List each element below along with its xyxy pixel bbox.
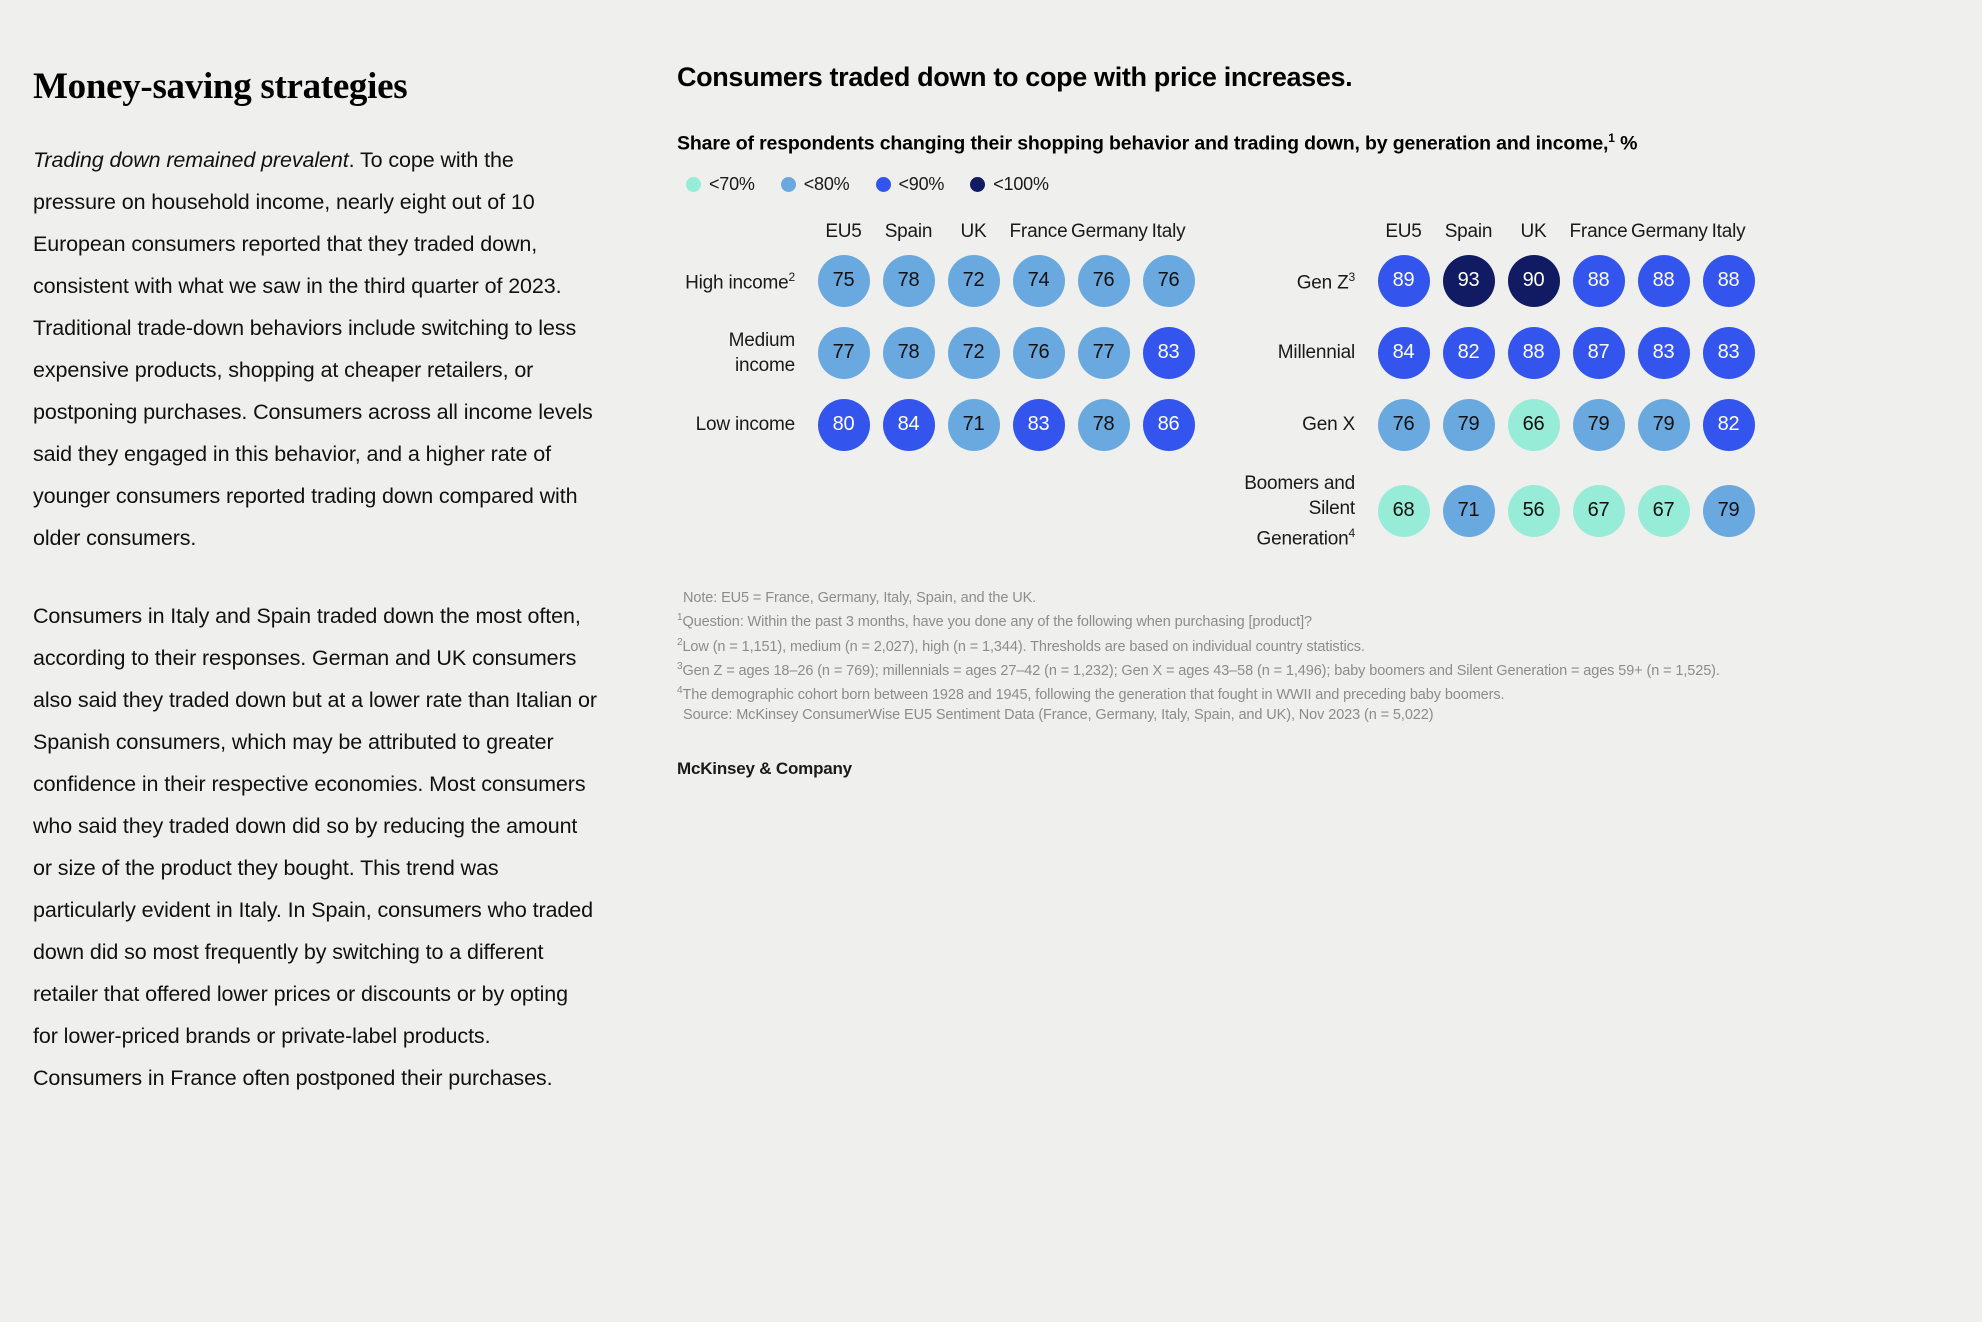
generation-panel: EU5SpainUKFranceGermanyItalyGen Z3899390… xyxy=(1237,221,1761,571)
matrix-cell: 80 xyxy=(811,399,876,451)
matrix-row: Boomers and Silent Generation46871566767… xyxy=(1237,471,1761,551)
matrix-cell: 67 xyxy=(1566,485,1631,537)
value-bubble: 66 xyxy=(1508,399,1560,451)
legend-swatch-circle-icon xyxy=(970,177,985,192)
matrix-cell: 87 xyxy=(1566,327,1631,379)
value-bubble: 67 xyxy=(1573,485,1625,537)
value-bubble: 76 xyxy=(1013,327,1065,379)
value-bubble: 76 xyxy=(1078,255,1130,307)
matrix-cell: 76 xyxy=(1371,399,1436,451)
column-header-row: EU5SpainUKFranceGermanyItaly xyxy=(677,221,1201,243)
footnote-text: Source: McKinsey ConsumerWise EU5 Sentim… xyxy=(683,707,1433,723)
value-bubble: 78 xyxy=(883,255,935,307)
matrix-cell: 88 xyxy=(1501,327,1566,379)
row-label-text: Low income xyxy=(696,414,795,435)
row-label-text: Boomers and Silent Generation xyxy=(1244,473,1355,549)
matrix-row: Millennial848288878383 xyxy=(1237,327,1761,379)
legend-item: <70% xyxy=(686,174,755,195)
matrix-row: High income2757872747676 xyxy=(677,255,1201,307)
value-bubble: 88 xyxy=(1638,255,1690,307)
column-header-germany: Germany xyxy=(1631,221,1696,243)
matrix-cell: 82 xyxy=(1696,399,1761,451)
value-bubble: 88 xyxy=(1508,327,1560,379)
value-bubble: 79 xyxy=(1638,399,1690,451)
matrix-row: Medium income777872767783 xyxy=(677,327,1201,379)
footnote-line: 4The demographic cohort born between 192… xyxy=(677,681,1937,705)
value-bubble: 83 xyxy=(1143,327,1195,379)
column-header-france: France xyxy=(1006,221,1071,243)
exhibit-subtitle-footnote-marker: 1 xyxy=(1608,131,1615,145)
matrix-cell: 74 xyxy=(1006,255,1071,307)
matrix-cell: 72 xyxy=(941,327,1006,379)
matrix-cell: 78 xyxy=(876,327,941,379)
value-bubble: 77 xyxy=(1078,327,1130,379)
value-bubble: 87 xyxy=(1573,327,1625,379)
value-bubble: 79 xyxy=(1573,399,1625,451)
bubble-matrix: EU5SpainUKFranceGermanyItalyHigh income2… xyxy=(677,221,1917,571)
matrix-cell: 68 xyxy=(1371,485,1436,537)
value-bubble: 72 xyxy=(948,255,1000,307)
matrix-cell: 83 xyxy=(1631,327,1696,379)
header-row-spacer xyxy=(677,231,811,232)
article-paragraph-1: Trading down remained prevalent. To cope… xyxy=(33,139,598,559)
value-bubble: 72 xyxy=(948,327,1000,379)
matrix-cell: 84 xyxy=(1371,327,1436,379)
footnote-text: Question: Within the past 3 months, have… xyxy=(682,614,1312,630)
matrix-cell: 76 xyxy=(1006,327,1071,379)
matrix-cell: 77 xyxy=(1071,327,1136,379)
column-header-italy: Italy xyxy=(1696,221,1761,243)
value-bubble: 68 xyxy=(1378,485,1430,537)
legend-item: <80% xyxy=(781,174,850,195)
row-label-footnote-marker: 4 xyxy=(1349,526,1355,540)
matrix-cell: 89 xyxy=(1371,255,1436,307)
row-label: Gen Z3 xyxy=(1237,265,1371,295)
value-bubble: 74 xyxy=(1013,255,1065,307)
matrix-cell: 88 xyxy=(1696,255,1761,307)
row-label-text: Gen X xyxy=(1302,414,1355,435)
value-bubble: 82 xyxy=(1703,399,1755,451)
value-bubble: 56 xyxy=(1508,485,1560,537)
matrix-cell: 72 xyxy=(941,255,1006,307)
column-header-uk: UK xyxy=(1501,221,1566,243)
matrix-cell: 79 xyxy=(1436,399,1501,451)
value-bubble: 78 xyxy=(883,327,935,379)
legend-label: <80% xyxy=(804,174,850,195)
column-header-italy: Italy xyxy=(1136,221,1201,243)
row-label-footnote-marker: 3 xyxy=(1349,270,1355,284)
row-label: Millennial xyxy=(1237,340,1371,365)
legend-label: <90% xyxy=(899,174,945,195)
legend-label: <100% xyxy=(993,174,1049,195)
matrix-cell: 76 xyxy=(1136,255,1201,307)
column-header-france: France xyxy=(1566,221,1631,243)
value-bubble: 90 xyxy=(1508,255,1560,307)
matrix-cell: 77 xyxy=(811,327,876,379)
matrix-cell: 84 xyxy=(876,399,941,451)
matrix-cell: 79 xyxy=(1631,399,1696,451)
column-header-spain: Spain xyxy=(1436,221,1501,243)
exhibit-subtitle-unit: % xyxy=(1620,133,1637,155)
column-header-row: EU5SpainUKFranceGermanyItaly xyxy=(1237,221,1761,243)
header-row-spacer xyxy=(1237,231,1371,232)
exhibit-title: Consumers traded down to cope with price… xyxy=(677,62,1917,93)
column-header-eu5: EU5 xyxy=(811,221,876,243)
value-bubble: 82 xyxy=(1443,327,1495,379)
matrix-cell: 56 xyxy=(1501,485,1566,537)
value-bubble: 79 xyxy=(1703,485,1755,537)
income-panel: EU5SpainUKFranceGermanyItalyHigh income2… xyxy=(677,221,1201,571)
footnotes: Note: EU5 = France, Germany, Italy, Spai… xyxy=(677,589,1937,725)
matrix-cell: 82 xyxy=(1436,327,1501,379)
exhibit-subtitle-text: Share of respondents changing their shop… xyxy=(677,133,1608,155)
footnote-text: Note: EU5 = France, Germany, Italy, Spai… xyxy=(683,590,1036,606)
value-bubble: 76 xyxy=(1143,255,1195,307)
matrix-cell: 71 xyxy=(941,399,1006,451)
matrix-cell: 76 xyxy=(1071,255,1136,307)
matrix-cell: 67 xyxy=(1631,485,1696,537)
column-header-eu5: EU5 xyxy=(1371,221,1436,243)
legend-swatch-circle-icon xyxy=(686,177,701,192)
value-bubble: 88 xyxy=(1573,255,1625,307)
column-header-uk: UK xyxy=(941,221,1006,243)
matrix-cell: 78 xyxy=(1071,399,1136,451)
article-lead-in: Trading down remained prevalent xyxy=(33,148,349,172)
matrix-row: Low income808471837886 xyxy=(677,399,1201,451)
legend-swatch-circle-icon xyxy=(781,177,796,192)
matrix-cell: 83 xyxy=(1696,327,1761,379)
legend: <70%<80%<90%<100% xyxy=(686,174,1917,195)
footnote-line: 2Low (n = 1,151), medium (n = 2,027), hi… xyxy=(677,633,1937,657)
value-bubble: 86 xyxy=(1143,399,1195,451)
matrix-cell: 93 xyxy=(1436,255,1501,307)
footnote-text: Gen Z = ages 18–26 (n = 769); millennial… xyxy=(682,663,1719,679)
matrix-cell: 90 xyxy=(1501,255,1566,307)
article-paragraph-2: Consumers in Italy and Spain traded down… xyxy=(33,595,598,1099)
value-bubble: 79 xyxy=(1443,399,1495,451)
legend-item: <90% xyxy=(876,174,945,195)
matrix-row: Gen Z3899390888888 xyxy=(1237,255,1761,307)
page-title: Money-saving strategies xyxy=(33,66,598,109)
value-bubble: 78 xyxy=(1078,399,1130,451)
brand-mark: McKinsey & Company xyxy=(677,759,1917,779)
row-label-text: Gen Z xyxy=(1297,273,1349,294)
value-bubble: 89 xyxy=(1378,255,1430,307)
article-paragraph-1-rest: . To cope with the pressure on household… xyxy=(33,148,593,550)
legend-item: <100% xyxy=(970,174,1049,195)
row-label: Low income xyxy=(677,412,811,437)
exhibit-page: { "article": { "title": "Money-saving st… xyxy=(0,0,1982,1322)
matrix-cell: 79 xyxy=(1566,399,1631,451)
matrix-cell: 75 xyxy=(811,255,876,307)
value-bubble: 75 xyxy=(818,255,870,307)
row-label-text: Millennial xyxy=(1278,342,1355,363)
value-bubble: 88 xyxy=(1703,255,1755,307)
matrix-cell: 88 xyxy=(1631,255,1696,307)
column-header-germany: Germany xyxy=(1071,221,1136,243)
row-label: Medium income xyxy=(677,328,811,378)
value-bubble: 84 xyxy=(1378,327,1430,379)
footnote-text: Low (n = 1,151), medium (n = 2,027), hig… xyxy=(682,638,1364,654)
value-bubble: 93 xyxy=(1443,255,1495,307)
exhibit-column: Consumers traded down to cope with price… xyxy=(677,62,1917,779)
row-label-text: Medium income xyxy=(729,330,795,376)
footnote-line: Note: EU5 = France, Germany, Italy, Spai… xyxy=(677,589,1937,609)
article-column: Money-saving strategies Trading down rem… xyxy=(33,66,598,1135)
matrix-cell: 86 xyxy=(1136,399,1201,451)
row-label-footnote-marker: 2 xyxy=(789,270,795,284)
matrix-cell: 78 xyxy=(876,255,941,307)
footnote-text: The demographic cohort born between 1928… xyxy=(682,687,1504,703)
row-label: Boomers and Silent Generation4 xyxy=(1237,471,1371,551)
matrix-cell: 83 xyxy=(1006,399,1071,451)
matrix-cell: 66 xyxy=(1501,399,1566,451)
value-bubble: 77 xyxy=(818,327,870,379)
footnote-line: 1Question: Within the past 3 months, hav… xyxy=(677,608,1937,632)
legend-label: <70% xyxy=(709,174,755,195)
value-bubble: 83 xyxy=(1638,327,1690,379)
value-bubble: 84 xyxy=(883,399,935,451)
row-label: Gen X xyxy=(1237,412,1371,437)
value-bubble: 83 xyxy=(1013,399,1065,451)
matrix-row: Gen X767966797982 xyxy=(1237,399,1761,451)
matrix-cell: 83 xyxy=(1136,327,1201,379)
matrix-cell: 71 xyxy=(1436,485,1501,537)
value-bubble: 80 xyxy=(818,399,870,451)
matrix-cell: 88 xyxy=(1566,255,1631,307)
legend-swatch-circle-icon xyxy=(876,177,891,192)
exhibit-subtitle: Share of respondents changing their shop… xyxy=(677,131,1917,156)
value-bubble: 71 xyxy=(1443,485,1495,537)
column-header-spain: Spain xyxy=(876,221,941,243)
row-label-text: High income xyxy=(685,273,788,294)
footnote-line: Source: McKinsey ConsumerWise EU5 Sentim… xyxy=(677,706,1937,726)
matrix-cell: 79 xyxy=(1696,485,1761,537)
value-bubble: 71 xyxy=(948,399,1000,451)
value-bubble: 83 xyxy=(1703,327,1755,379)
value-bubble: 67 xyxy=(1638,485,1690,537)
value-bubble: 76 xyxy=(1378,399,1430,451)
footnote-line: 3Gen Z = ages 18–26 (n = 769); millennia… xyxy=(677,657,1937,681)
row-label: High income2 xyxy=(677,265,811,295)
